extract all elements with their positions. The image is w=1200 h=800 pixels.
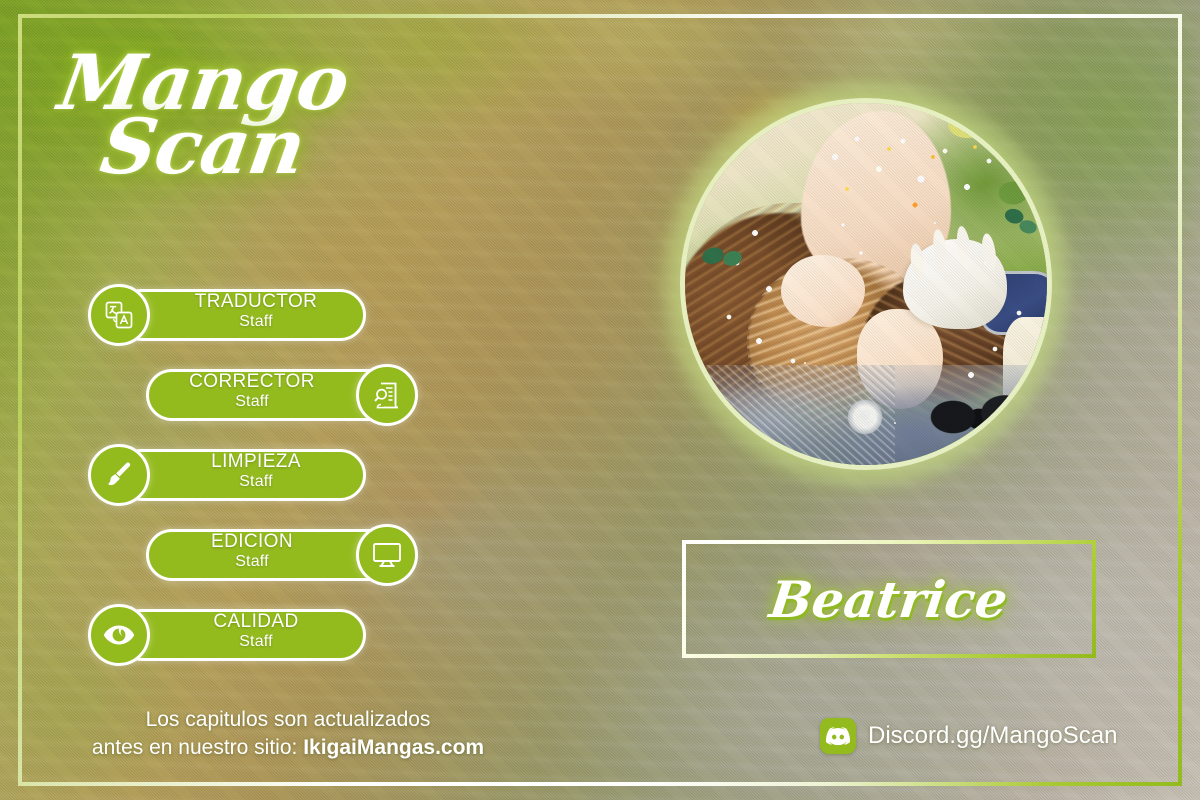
character-name: Beatrice xyxy=(767,570,1011,629)
staff-credit-list: TRADUCTOR Staff CORRECTOR Staff xyxy=(88,289,418,689)
credits-page: Mango Scan TRADUCTOR Staff xyxy=(0,0,1200,800)
staff-pill-corrector[interactable]: CORRECTOR Staff xyxy=(88,369,418,421)
site-domain[interactable]: IkigaiMangas.com xyxy=(303,736,484,759)
discord-link[interactable]: Discord.gg/MangoScan xyxy=(820,718,1117,754)
staff-sub-label: Staff xyxy=(144,313,368,330)
note-line-2-prefix: antes en nuestro sitio: xyxy=(92,736,303,759)
translate-icon xyxy=(88,284,150,346)
character-portrait xyxy=(680,98,1052,470)
discord-icon xyxy=(820,718,856,754)
staff-role-label: CORRECTOR xyxy=(140,372,364,393)
brush-icon xyxy=(88,444,150,506)
staff-role-label: EDICION xyxy=(140,532,364,553)
pill-labels: EDICION Staff xyxy=(140,532,364,570)
pill-labels: CALIDAD Staff xyxy=(144,612,368,650)
staff-sub-label: Staff xyxy=(140,553,364,570)
pill-labels: LIMPIEZA Staff xyxy=(144,452,368,490)
staff-pill-traductor[interactable]: TRADUCTOR Staff xyxy=(88,289,418,341)
character-portrait-container xyxy=(680,98,1052,470)
staff-role-label: TRADUCTOR xyxy=(144,292,368,313)
monitor-icon xyxy=(356,524,418,586)
staff-sub-label: Staff xyxy=(140,393,364,410)
staff-pill-limpieza[interactable]: LIMPIEZA Staff xyxy=(88,449,418,501)
staff-sub-label: Staff xyxy=(144,473,368,490)
eye-icon xyxy=(88,604,150,666)
art-halftone-texture xyxy=(685,103,1047,465)
pill-labels: TRADUCTOR Staff xyxy=(144,292,368,330)
site-update-note: Los capitulos son actualizados antes en … xyxy=(38,706,538,761)
character-name-box: Beatrice xyxy=(682,540,1096,658)
discord-label: Discord.gg/MangoScan xyxy=(868,722,1117,750)
staff-role-label: CALIDAD xyxy=(144,612,368,633)
note-line-1: Los capitulos son actualizados xyxy=(146,708,431,731)
staff-pill-calidad[interactable]: CALIDAD Staff xyxy=(88,609,418,661)
staff-pill-edicion[interactable]: EDICION Staff xyxy=(88,529,418,581)
proofread-icon xyxy=(356,364,418,426)
pill-labels: CORRECTOR Staff xyxy=(140,372,364,410)
staff-sub-label: Staff xyxy=(144,633,368,650)
staff-role-label: LIMPIEZA xyxy=(144,452,368,473)
